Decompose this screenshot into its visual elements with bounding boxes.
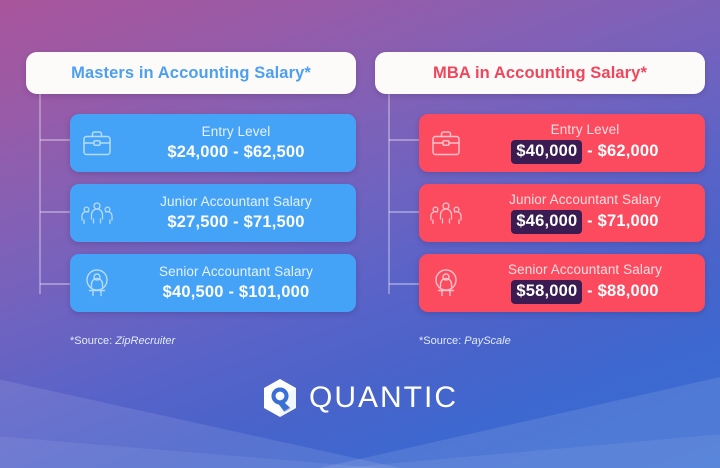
masters-card-entry-level[interactable]: Entry Level $24,000 - $62,500 [70,114,356,172]
salary-high: $62,000 [598,142,659,160]
mba-card-junior-accountant[interactable]: Junior Accountant Salary $46,000 - $71,0… [419,184,705,242]
senior-person-icon [70,254,124,312]
briefcase-icon [419,114,473,172]
mba-card-senior-accountant[interactable]: Senior Accountant Salary $58,000 - $88,0… [419,254,705,312]
mba-card-list: Entry Level $40,000 - $62,000 [419,114,705,324]
masters-card-entry-level-body: Entry Level $24,000 - $62,500 [124,124,356,163]
salary-low-highlight: $40,000 [511,140,582,164]
role-label: Entry Level [551,122,620,139]
mba-card-junior-accountant-body: Junior Accountant Salary $46,000 - $71,0… [473,192,705,234]
people-group-icon [70,184,124,242]
salary-low-highlight: $58,000 [511,280,582,304]
role-label: Junior Accountant Salary [160,194,312,211]
salary-high: $88,000 [598,282,659,300]
role-label: Senior Accountant Salary [508,262,662,279]
mba-card-senior-accountant-body: Senior Accountant Salary $58,000 - $88,0… [473,262,705,304]
masters-source-note: *Source: ZipRecruiter [70,335,175,347]
mba-card-entry-level[interactable]: Entry Level $40,000 - $62,000 [419,114,705,172]
masters-card-senior-accountant-body: Senior Accountant Salary $40,500 - $101,… [124,264,356,303]
masters-card-senior-accountant[interactable]: Senior Accountant Salary $40,500 - $101,… [70,254,356,312]
masters-source-name: ZipRecruiter [115,335,175,347]
role-label: Senior Accountant Salary [159,264,313,281]
senior-person-icon [419,254,473,312]
salary-range: $24,000 - $62,500 [167,142,304,163]
masters-card-list: Entry Level $24,000 - $62,500 [70,114,356,324]
masters-header-pill: Masters in Accounting Salary* [26,52,356,94]
salary-high: $71,000 [598,212,659,230]
salary-range: $40,000 - $62,000 [511,140,658,164]
mba-source-label: *Source: [419,335,461,347]
quantic-q-hexagon-logo [262,378,298,418]
mba-header-pill: MBA in Accounting Salary* [375,52,705,94]
briefcase-icon [70,114,124,172]
role-label: Entry Level [202,124,271,141]
salary-range: $27,500 - $71,500 [167,212,304,233]
salary-separator: - [582,212,597,230]
infographic-canvas: Masters in Accounting Salary* [0,0,720,468]
mba-source-note: *Source: PayScale [419,335,511,347]
salary-low-highlight: $46,000 [511,210,582,234]
salary-separator: - [582,282,597,300]
mba-card-entry-level-body: Entry Level $40,000 - $62,000 [473,122,705,164]
mba-column: MBA in Accounting Salary* [375,52,705,94]
quantic-wordmark: QUANTIC [309,383,458,413]
masters-title: Masters in Accounting Salary* [71,64,311,83]
role-label: Junior Accountant Salary [509,192,661,209]
mba-source-name: PayScale [464,335,510,347]
masters-card-junior-accountant[interactable]: Junior Accountant Salary $27,500 - $71,5… [70,184,356,242]
mba-title: MBA in Accounting Salary* [433,64,647,83]
masters-card-junior-accountant-body: Junior Accountant Salary $27,500 - $71,5… [124,194,356,233]
masters-column: Masters in Accounting Salary* [26,52,356,94]
people-group-icon [419,184,473,242]
salary-range: $46,000 - $71,000 [511,210,658,234]
masters-source-label: *Source: [70,335,112,347]
quantic-logo: QUANTIC [0,378,720,418]
salary-range: $58,000 - $88,000 [511,280,658,304]
salary-separator: - [582,142,597,160]
salary-range: $40,500 - $101,000 [163,282,310,303]
